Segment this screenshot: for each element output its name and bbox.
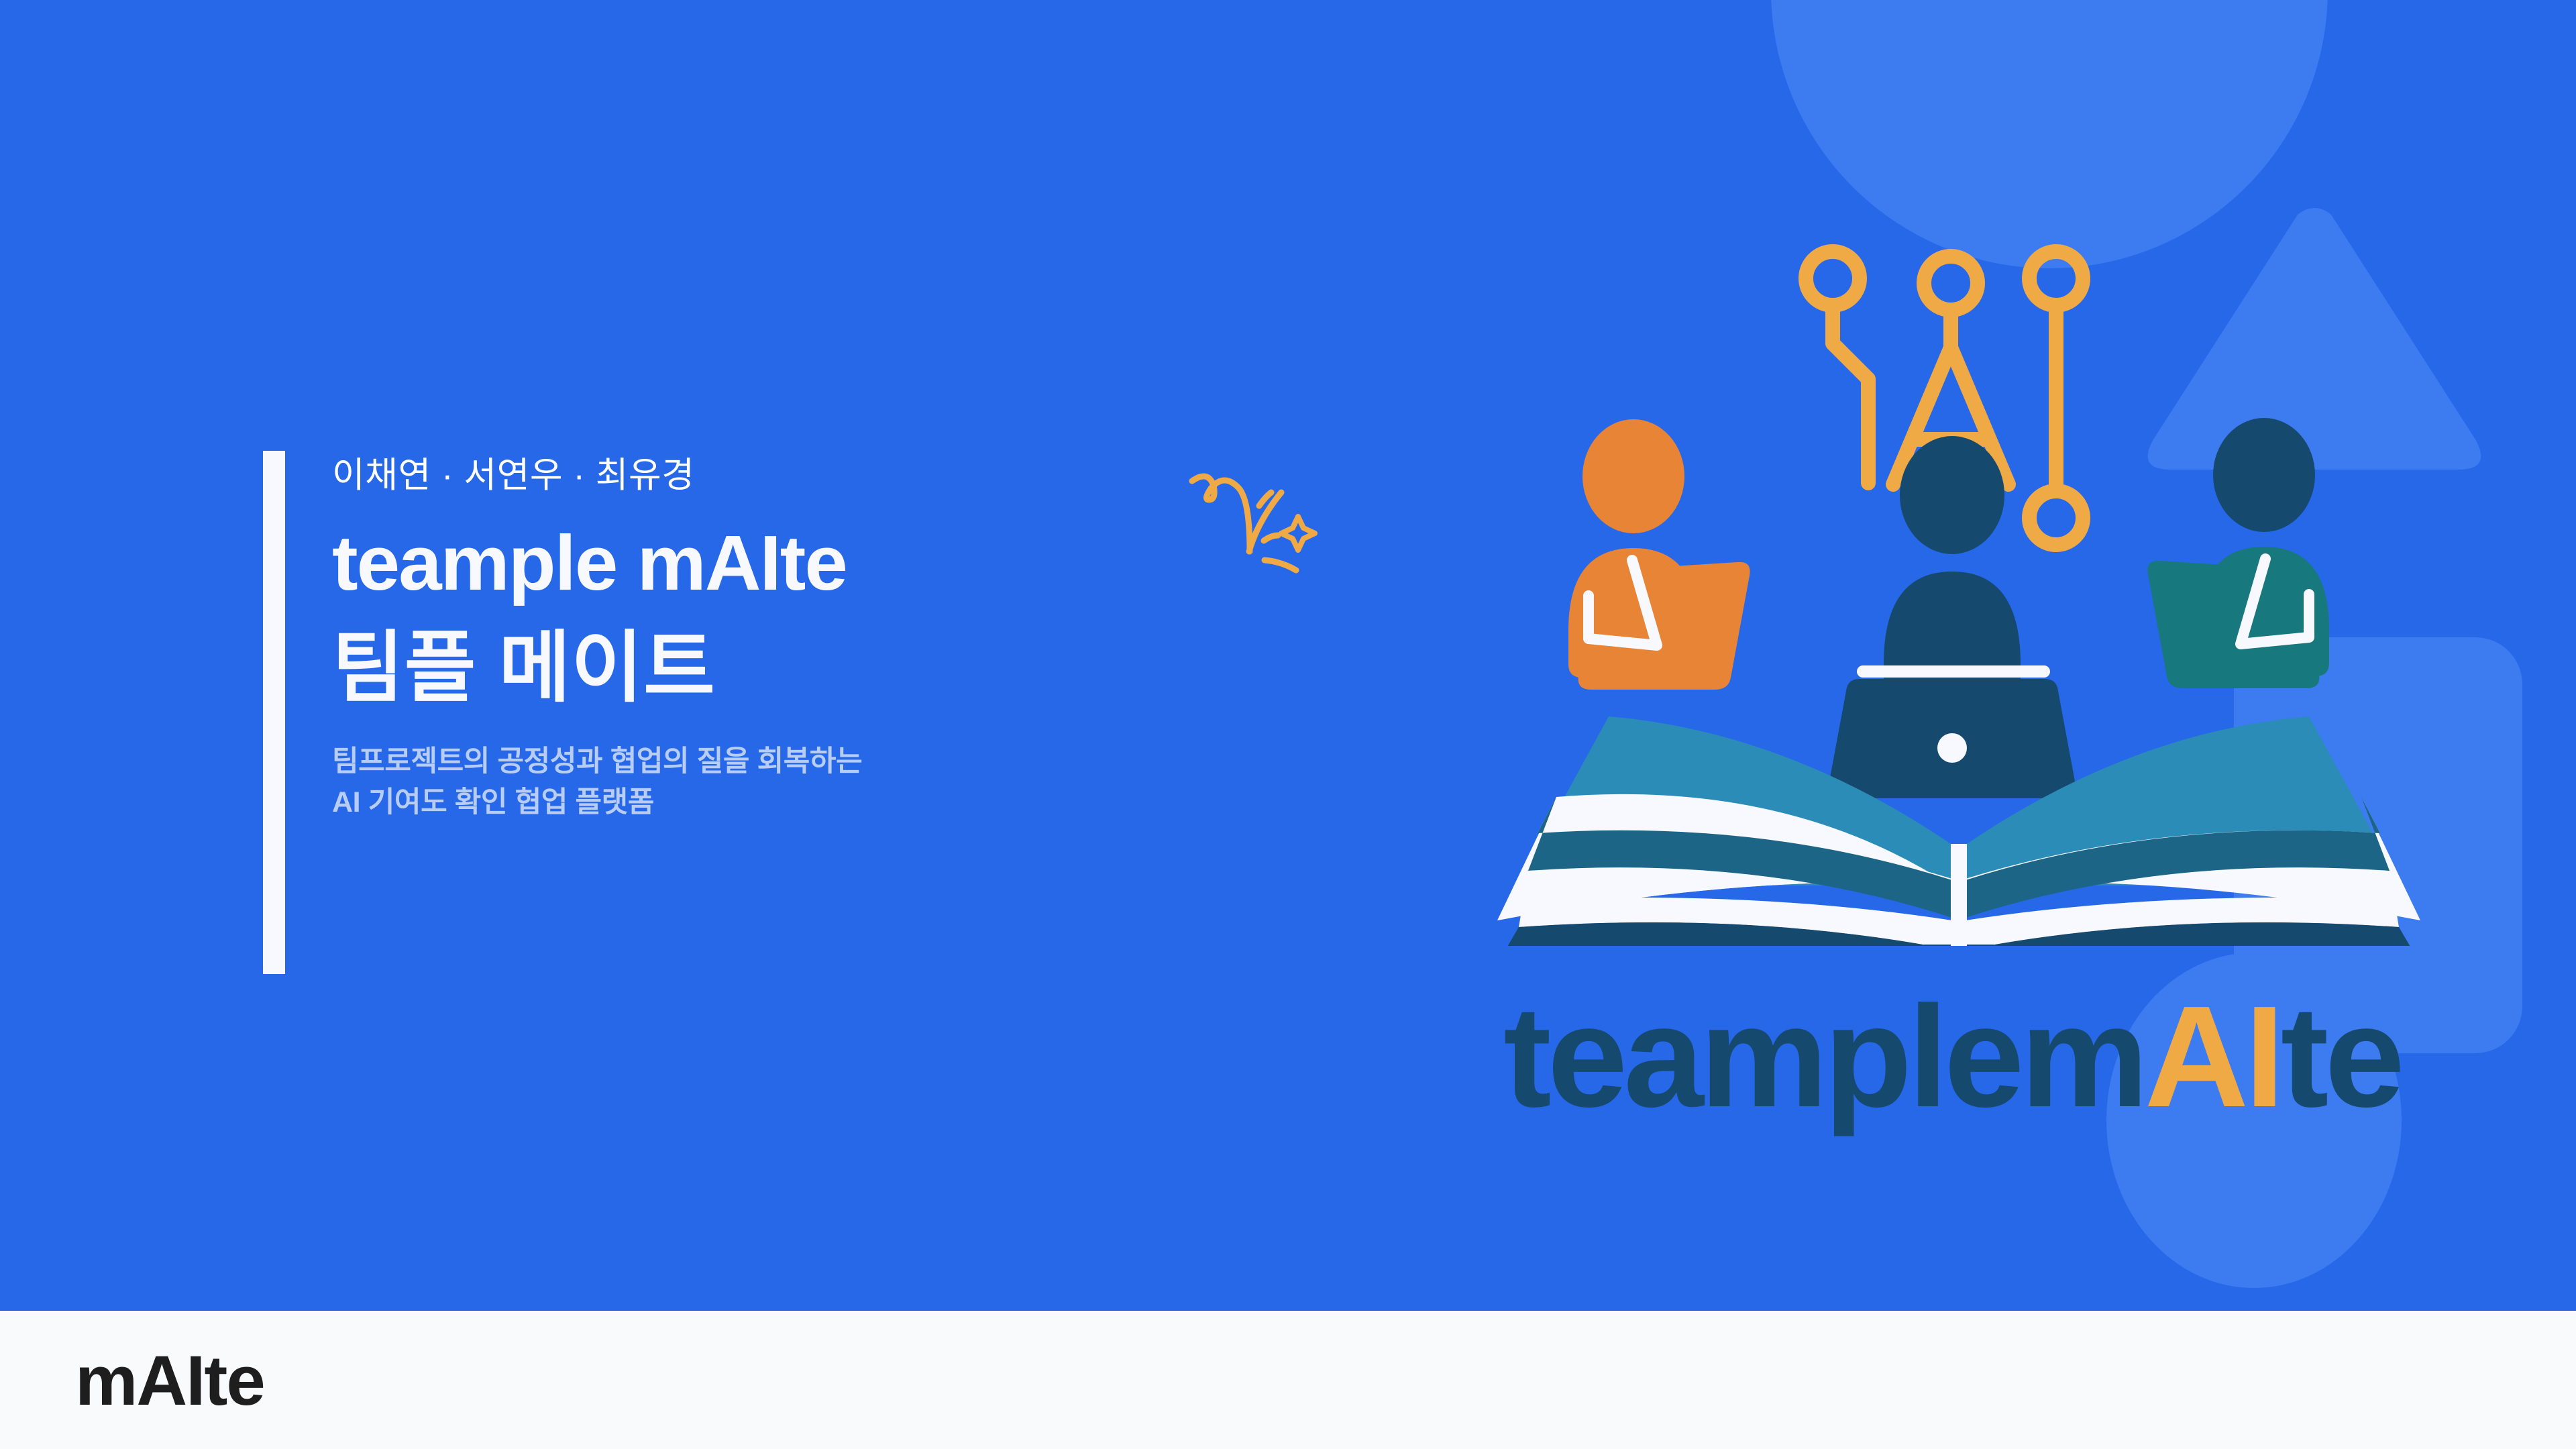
hero-text-inner: 이채연 · 서연우 · 최유경 teample mAIte 팀플 메이트 팀프로…	[332, 451, 1258, 823]
brand-wordmark: teamplemAIte	[1382, 973, 2522, 1140]
wordmark-ai-highlight: AI	[2145, 975, 2281, 1137]
hero-subtitle: 팀프로젝트의 공정성과 협업의 질을 회복하는 AI 기여도 확인 협업 플랫폼	[332, 706, 1258, 823]
person-left-orange	[1568, 419, 1750, 690]
hero-subtitle-line-2: AI 기여도 확인 협업 플랫폼	[332, 782, 1258, 823]
slide-root: 이채연 · 서연우 · 최유경 teample mAIte 팀플 메이트 팀프로…	[0, 0, 2576, 1449]
page-title-korean: 팀플 메이트	[332, 602, 1258, 706]
hero-panel: 이채연 · 서연우 · 최유경 teample mAIte 팀플 메이트 팀프로…	[0, 0, 2576, 1311]
wordmark-prefix: teamplem	[1503, 975, 2145, 1137]
person-right-teal	[2147, 418, 2329, 688]
footer-logo: mAIte	[75, 1346, 264, 1416]
wordmark-suffix: te	[2281, 975, 2401, 1137]
authors-line: 이채연 · 서연우 · 최유경	[332, 451, 1258, 493]
hero-subtitle-line-1: 팀프로젝트의 공정성과 협업의 질을 회복하는	[332, 741, 1258, 782]
sparkle-doodle-icon	[1164, 451, 1332, 598]
footer-bar: mAIte	[0, 1311, 2576, 1449]
page-title-english: teample mAIte	[332, 493, 1258, 602]
accent-bar	[263, 451, 285, 974]
hero-illustration	[1489, 195, 2428, 946]
